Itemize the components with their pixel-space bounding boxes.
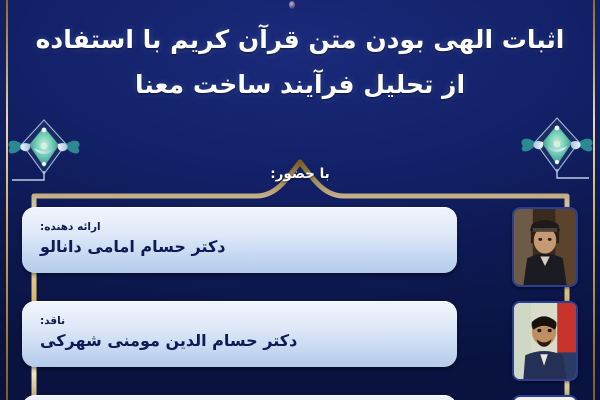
poster-root: اثبات الهی بودن متن قرآن کریم با استفاده… (0, 0, 600, 400)
speakers-list: ارائه دهنده: دکتر حسام امامی دانالو (0, 207, 600, 400)
page-title-line-2: از تحلیل فرآیند ساخت معنا (34, 67, 566, 104)
speaker-pill-1: ارائه دهنده: دکتر حسام امامی دانالو (22, 207, 457, 273)
list-item[interactable] (22, 395, 578, 400)
speaker-photo-2 (512, 301, 578, 381)
poster-title-block: اثبات الهی بودن متن قرآن کریم با استفاده… (0, 22, 600, 103)
speaker-photo-1 (512, 207, 578, 287)
speaker-photo-3 (512, 395, 578, 400)
list-item[interactable]: ناقد: دکتر حسام الدین مومنی شهرکی (22, 301, 578, 381)
speaker-name-1: دکتر حسام امامی دانالو (40, 237, 226, 256)
speaker-role-1: ارائه دهنده: (40, 222, 101, 234)
speaker-pill-3 (22, 395, 457, 400)
list-item[interactable]: ارائه دهنده: دکتر حسام امامی دانالو (22, 207, 578, 287)
speaker-pill-2: ناقد: دکتر حسام الدین مومنی شهرکی (22, 301, 457, 367)
speaker-role-2: ناقد: (40, 316, 65, 328)
top-cropped-decoration (289, 1, 295, 9)
page-title-line-1: اثبات الهی بودن متن قرآن کریم با استفاده (34, 22, 566, 59)
speaker-name-2: دکتر حسام الدین مومنی شهرکی (40, 331, 297, 350)
arch-label-ba-hozoor: با حضور: (0, 166, 600, 182)
